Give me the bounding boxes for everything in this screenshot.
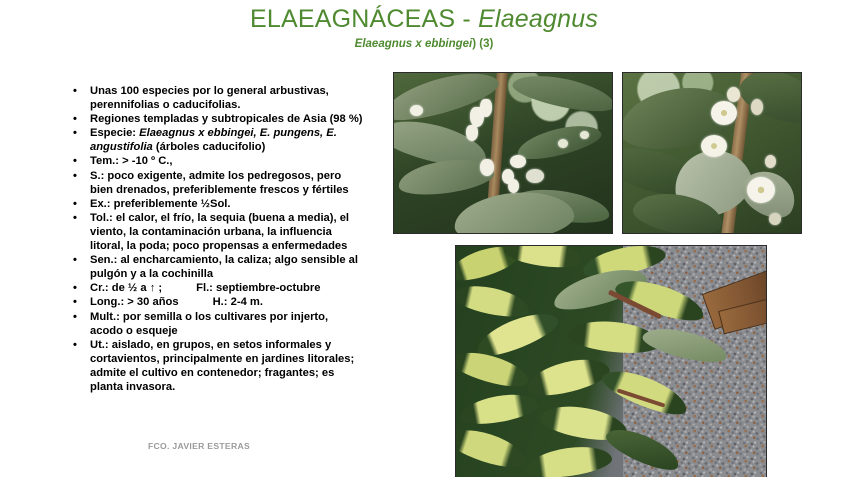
bullet-marker: • <box>73 253 77 267</box>
list-item-line: S.: poco exigente, admite los pedregosos… <box>90 169 374 183</box>
bullet-marker: • <box>73 126 77 140</box>
list-item-line: Ut.: aislado, en grupos, en setos inform… <box>90 338 374 352</box>
leaf-variegated <box>524 442 613 477</box>
longevity: Long.: > 30 años <box>90 296 179 308</box>
leaf-variegated <box>458 389 539 428</box>
list-item-line: bien drenados, preferiblemente frescos y… <box>90 183 374 197</box>
bullet-marker: • <box>73 281 77 295</box>
photo-flowers-branch <box>393 72 613 234</box>
species-name-others: , E. pungens, E. <box>254 127 337 139</box>
bullet-marker: • <box>73 169 77 183</box>
photo-scene <box>456 246 766 477</box>
species-label: Especie: <box>90 127 139 139</box>
flower <box>526 169 544 183</box>
flower <box>410 105 423 116</box>
title-block: ELAEAGNÁCEAS - Elaeagnus Elaeagnus x ebb… <box>0 4 848 51</box>
flower <box>466 125 478 141</box>
flower <box>558 139 568 148</box>
photo-shrub-variegated <box>455 245 767 477</box>
flower <box>508 179 519 193</box>
list-item-species: • Especie: Elaeagnus x ebbingei, E. pung… <box>66 126 374 154</box>
flower-bud <box>727 87 740 102</box>
bullet-marker: • <box>73 154 77 168</box>
flower <box>480 99 492 117</box>
list-item-soil: • S.: poco exigente, admite los pedregos… <box>66 169 374 197</box>
flower <box>510 155 526 168</box>
flower <box>701 135 727 157</box>
list-item-line: Especie: Elaeagnus x ebbingei, E. pungen… <box>90 126 374 140</box>
flowering-period: Fl.: septiembre-octubre <box>196 281 320 295</box>
list-item-line: Cr.: de ½ a ↑ ;Fl.: septiembre-octubre <box>90 281 374 295</box>
list-item-tolerance: • Tol.: el calor, el frío, la sequia (bu… <box>66 211 374 253</box>
list-item-temperature: • Tem.: > -10 º C., <box>66 154 374 168</box>
bullet-marker: • <box>73 197 77 211</box>
list-item-growth-flowering: • Cr.: de ½ a ↑ ;Fl.: septiembre-octubre <box>66 281 374 295</box>
list-item-line: cortavientos, principalmente en jardines… <box>90 352 374 366</box>
list-item-line: Ex.: preferiblemente ½Sol. <box>90 197 374 211</box>
list-item-line: viento, la contaminación urbana, la infl… <box>90 225 374 239</box>
page-title: ELAEAGNÁCEAS - Elaeagnus <box>0 4 848 34</box>
list-item-sensitivity: • Sen.: al encharcamiento, la caliza; al… <box>66 253 374 281</box>
bullet-marker: • <box>73 112 77 126</box>
flower-bud <box>751 99 763 115</box>
growth-rate: Cr.: de ½ a ↑ ; <box>90 282 162 294</box>
bullet-marker: • <box>73 211 77 225</box>
leaf-variegated <box>503 245 584 271</box>
list-item: • Unas 100 especies por lo general arbus… <box>66 84 374 112</box>
species-name-secondary: angustifolia <box>90 141 153 153</box>
list-item-line: Sen.: al encharcamiento, la caliza; algo… <box>90 253 374 267</box>
photo-scene <box>623 73 801 233</box>
page-subtitle-suffix: ) (3) <box>472 38 493 50</box>
list-item-line: Tem.: > -10 º C., <box>90 154 374 168</box>
species-name-primary: Elaeagnus x ebbingei <box>139 127 253 139</box>
flower-bud <box>769 213 781 225</box>
list-item-line: Unas 100 especies por lo general arbusti… <box>90 84 374 98</box>
leaf <box>510 72 613 118</box>
flower <box>747 177 775 203</box>
list-item-line: acodo o esqueje <box>90 324 374 338</box>
page-subtitle-species: Elaeagnus x ebbingei <box>355 38 473 50</box>
bullet-marker: • <box>73 84 77 98</box>
bullet-marker: • <box>73 295 77 309</box>
list-item-propagation: • Mult.: por semilla o los cultivares po… <box>66 310 374 338</box>
list-item-line: Long.: > 30 añosH.: 2-4 m. <box>90 295 374 309</box>
flower-bud <box>765 155 776 168</box>
list-item-line: pulgón y a la cochinilla <box>90 267 374 281</box>
list-item-line: angustifolia (árboles caducifolio) <box>90 140 374 154</box>
photo-flowers-open <box>622 72 802 234</box>
page-subtitle: Elaeagnus x ebbingei) (3) <box>0 37 848 51</box>
list-item-longevity-height: • Long.: > 30 añosH.: 2-4 m. <box>66 295 374 309</box>
height: H.: 2-4 m. <box>213 295 263 309</box>
list-item-line: perennifolias o caducifolias. <box>90 98 374 112</box>
list-item-line: Regiones templadas y subtropicales de As… <box>90 112 374 126</box>
list-item-exposure: • Ex.: preferiblemente ½Sol. <box>66 197 374 211</box>
list-item-line: admite el cultivo en contenedor; fragant… <box>90 366 374 380</box>
content-list: • Unas 100 especies por lo general arbus… <box>66 84 374 394</box>
leaf-variegated <box>455 422 530 474</box>
list-item-line: Tol.: el calor, el frío, la sequia (buen… <box>90 211 374 225</box>
bullet-marker: • <box>73 310 77 324</box>
bullet-marker: • <box>73 338 77 352</box>
page-title-genus: Elaeagnus <box>478 5 598 33</box>
list-item-line: litoral, la poda; poco propensas a enfer… <box>90 239 374 253</box>
leaf-variegated <box>455 280 532 322</box>
footer-credit: FCO. JAVIER ESTERAS <box>148 441 250 451</box>
flower <box>711 101 737 125</box>
photo-scene <box>394 73 612 233</box>
flower <box>480 159 494 176</box>
leaf-variegated <box>524 352 613 401</box>
list-item-uses: • Ut.: aislado, en grupos, en setos info… <box>66 338 374 394</box>
list-item-line: planta invasora. <box>90 380 374 394</box>
list-item: • Regiones templadas y subtropicales de … <box>66 112 374 126</box>
page-title-family: ELAEAGNÁCEAS - <box>250 5 478 33</box>
list-item-line: Mult.: por semilla o los cultivares por … <box>90 310 374 324</box>
species-note: (árboles caducifolio) <box>153 141 266 153</box>
flower <box>580 131 589 139</box>
